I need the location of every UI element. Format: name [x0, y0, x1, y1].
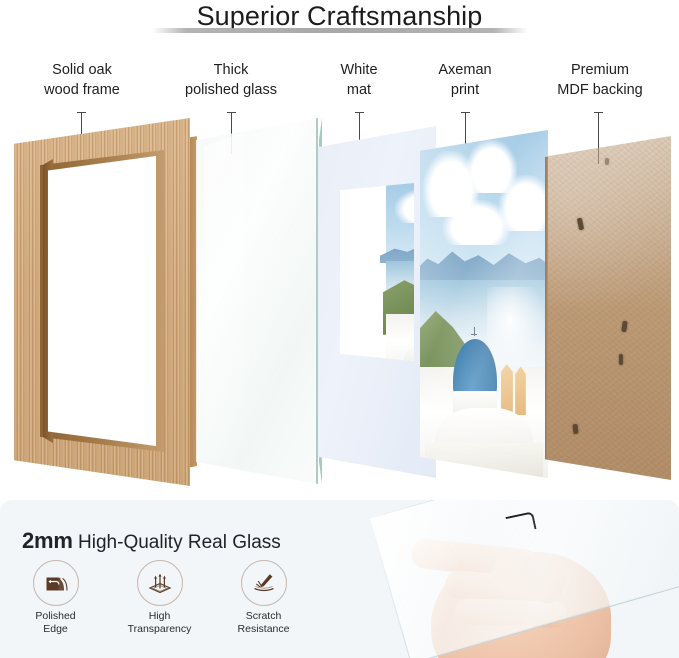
layer-glass [196, 118, 322, 484]
feature-scratch-resistance: Scratch Resistance [226, 560, 301, 636]
hand-holding-glass-photo [359, 500, 679, 658]
layer-mdf-backing [545, 136, 673, 480]
scratch-resistance-icon [241, 560, 287, 606]
callout-label-mdf: Premium MDF backing [530, 60, 670, 100]
glass-thickness-value: 2mm [22, 528, 73, 553]
print-photo [420, 130, 548, 478]
layer-print [420, 130, 552, 478]
glass-panel-headline-text: High-Quality Real Glass [78, 532, 281, 553]
mdf-board [545, 136, 671, 480]
mdf-hardware-tab [619, 354, 623, 365]
layer-wood-frame [14, 118, 196, 486]
glass-feature-list: Polished Edge [18, 560, 301, 636]
header: Superior Craftsmanship [0, 0, 679, 44]
feature-polished-edge: Polished Edge [18, 560, 93, 636]
scene-cloud [395, 188, 414, 224]
page-title: Superior Craftsmanship [0, 0, 679, 31]
title-underline [152, 28, 528, 33]
scene-cloud [443, 200, 510, 245]
polished-edge-icon [33, 560, 79, 606]
scene-cross [471, 334, 477, 335]
callout-label-print: Axeman print [424, 60, 506, 100]
mdf-hardware-tab [572, 424, 578, 434]
mdf-hardware-tab [605, 158, 609, 165]
feature-caption: High Transparency [122, 610, 197, 636]
mat-window-scene [386, 183, 414, 361]
scene-steps [425, 443, 543, 478]
mat-window-preview [340, 183, 414, 361]
glass-feature-panel: 2mm High-Quality Real Glass Polished Edg… [0, 500, 679, 658]
glass-panel-headline: 2mm High-Quality Real Glass [22, 528, 281, 554]
high-transparency-icon [137, 560, 183, 606]
frame-opening [48, 156, 156, 446]
callout-label-wood-frame: Solid oak wood frame [14, 60, 150, 100]
callout-label-mat: White mat [320, 60, 398, 100]
feature-high-transparency: High Transparency [122, 560, 197, 636]
feature-caption: Polished Edge [18, 610, 93, 636]
mdf-edge [545, 157, 548, 460]
exploded-view [0, 108, 679, 500]
scene-sea-glint [487, 287, 546, 371]
product-infographic: Superior Craftsmanship Solid oak wood fr… [0, 0, 679, 658]
callout-label-glass: Thick polished glass [162, 60, 300, 100]
feature-caption: Scratch Resistance [226, 610, 301, 636]
glass-reflection [204, 133, 244, 470]
